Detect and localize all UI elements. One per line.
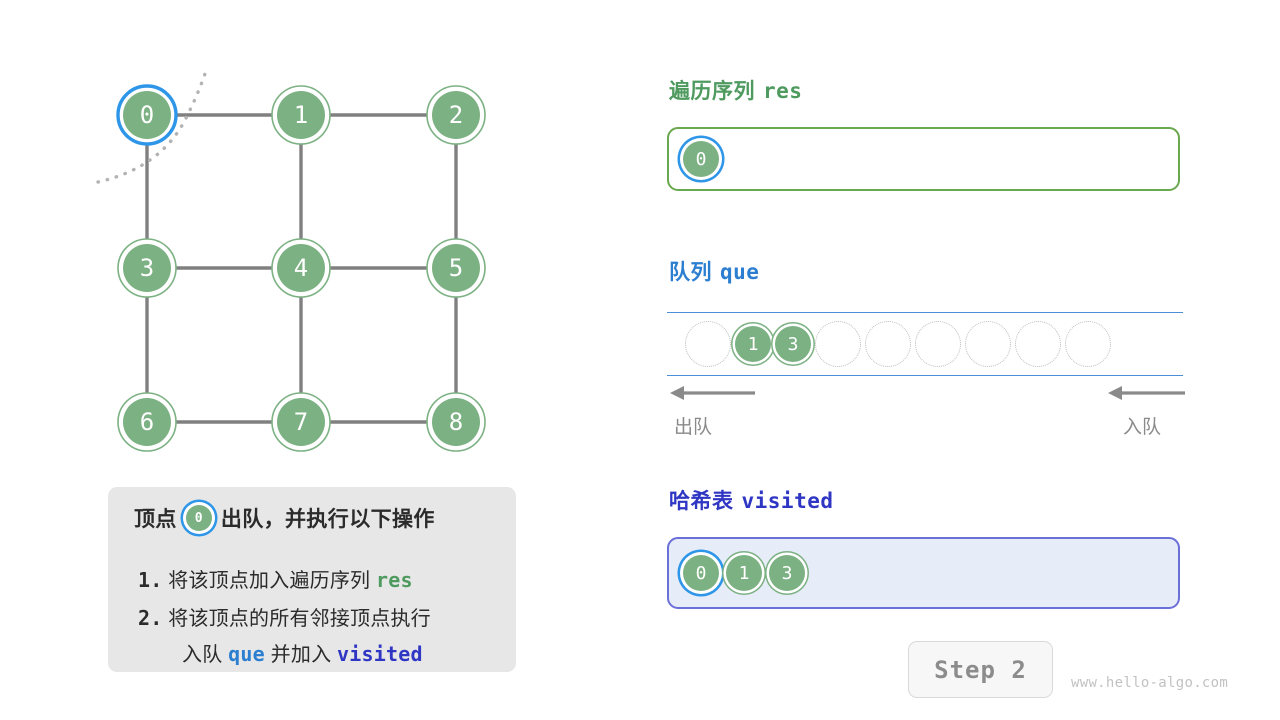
graph-node-label: 1: [294, 101, 308, 129]
res-section-title: 遍历序列res: [669, 75, 802, 105]
caption-step-1-index: 1.: [138, 568, 162, 592]
queue-slot-list: 13: [685, 312, 1111, 376]
queue-empty-slot: [815, 321, 861, 367]
graph-node-layer: 012345678: [118, 86, 485, 451]
graph-node-label: 6: [140, 408, 154, 436]
state-panel: 遍历序列res 0 队列que 13 出队 入队 哈希表visited 013: [665, 0, 1225, 720]
graph-node-2[interactable]: 2: [427, 86, 485, 144]
dequeue-label: 出队: [674, 412, 712, 439]
caption-step-2-index: 2.: [138, 606, 162, 630]
queue-title-code: que: [720, 260, 759, 284]
visited-title-text: 哈希表: [669, 490, 734, 513]
caption-step-2-continued: 入队 que 并加入 visited: [182, 638, 423, 667]
graph-node-label: 3: [140, 254, 154, 282]
graph-node-6[interactable]: 6: [118, 393, 176, 451]
graph-panel: 012345678: [0, 0, 620, 480]
step-badge: Step 2: [908, 641, 1053, 698]
graph-node-label: 5: [449, 254, 463, 282]
dequeue-arrow-icon: [667, 382, 757, 404]
enqueue-label: 入队: [1123, 412, 1161, 439]
queue-section-title: 队列que: [669, 256, 759, 286]
graph-node-label: 0: [140, 101, 154, 129]
graph-node-3[interactable]: 3: [118, 239, 176, 297]
graph-node-1[interactable]: 1: [272, 86, 330, 144]
graph-node-label: 8: [449, 408, 463, 436]
caption-head-suffix: 出队，并执行以下操作: [221, 503, 435, 533]
graph-node-8[interactable]: 8: [427, 393, 485, 451]
step-description-box: 顶点 0 出队，并执行以下操作 1. 将该顶点加入遍历序列 res 2. 将该顶…: [108, 487, 516, 672]
queue-item: 3: [775, 326, 811, 362]
enqueue-arrow-icon: [1105, 382, 1187, 404]
queue-direction-row: 出队 入队: [665, 382, 1185, 440]
caption-step-2-mid: 并加入: [271, 644, 332, 666]
watermark: www.hello-algo.com: [1071, 675, 1228, 691]
queue-empty-slot: [915, 321, 961, 367]
queue-container: 13: [667, 312, 1183, 376]
visited-item: 1: [726, 555, 762, 591]
queue-empty-slot: [965, 321, 1011, 367]
visited-section-title: 哈希表visited: [669, 485, 834, 515]
graph-node-5[interactable]: 5: [427, 239, 485, 297]
caption-step-2: 2. 将该顶点的所有邻接顶点执行: [138, 602, 431, 631]
caption-step-1-text: 将该顶点加入遍历序列: [168, 570, 370, 592]
graph-node-0[interactable]: 0: [118, 86, 176, 144]
graph-node-label: 2: [449, 101, 463, 129]
res-title-code: res: [763, 79, 802, 103]
caption-head-prefix: 顶点: [134, 503, 177, 533]
caption-step-1: 1. 将该顶点加入遍历序列 res: [138, 564, 413, 593]
queue-title-text: 队列: [669, 261, 712, 284]
caption-step-2-text: 将该顶点的所有邻接顶点执行: [168, 608, 431, 630]
caption-step-2-prefix: 入队: [182, 644, 222, 666]
graph-node-4[interactable]: 4: [272, 239, 330, 297]
queue-item: 1: [735, 326, 771, 362]
queue-empty-slot: [1065, 321, 1111, 367]
graph-svg: 012345678: [0, 0, 620, 480]
res-container: 0: [667, 127, 1180, 191]
queue-empty-slot: [1015, 321, 1061, 367]
graph-node-7[interactable]: 7: [272, 393, 330, 451]
visited-container: 013: [667, 537, 1180, 609]
res-item: 0: [683, 141, 719, 177]
caption-code-visited: visited: [337, 642, 423, 666]
visited-title-code: visited: [742, 489, 834, 513]
graph-node-label: 7: [294, 408, 308, 436]
queue-empty-slot: [865, 321, 911, 367]
res-title-text: 遍历序列: [669, 80, 755, 103]
res-item-list: 0: [683, 129, 719, 189]
caption-code-que: que: [228, 642, 265, 666]
visited-item-list: 013: [683, 539, 805, 607]
graph-node-label: 4: [294, 254, 308, 282]
caption-heading: 顶点 0 出队，并执行以下操作: [134, 503, 435, 533]
visited-item: 3: [769, 555, 805, 591]
caption-node-chip: 0: [186, 505, 212, 531]
caption-step-1-code: res: [376, 568, 413, 592]
visited-item: 0: [683, 555, 719, 591]
queue-empty-slot: [685, 321, 731, 367]
